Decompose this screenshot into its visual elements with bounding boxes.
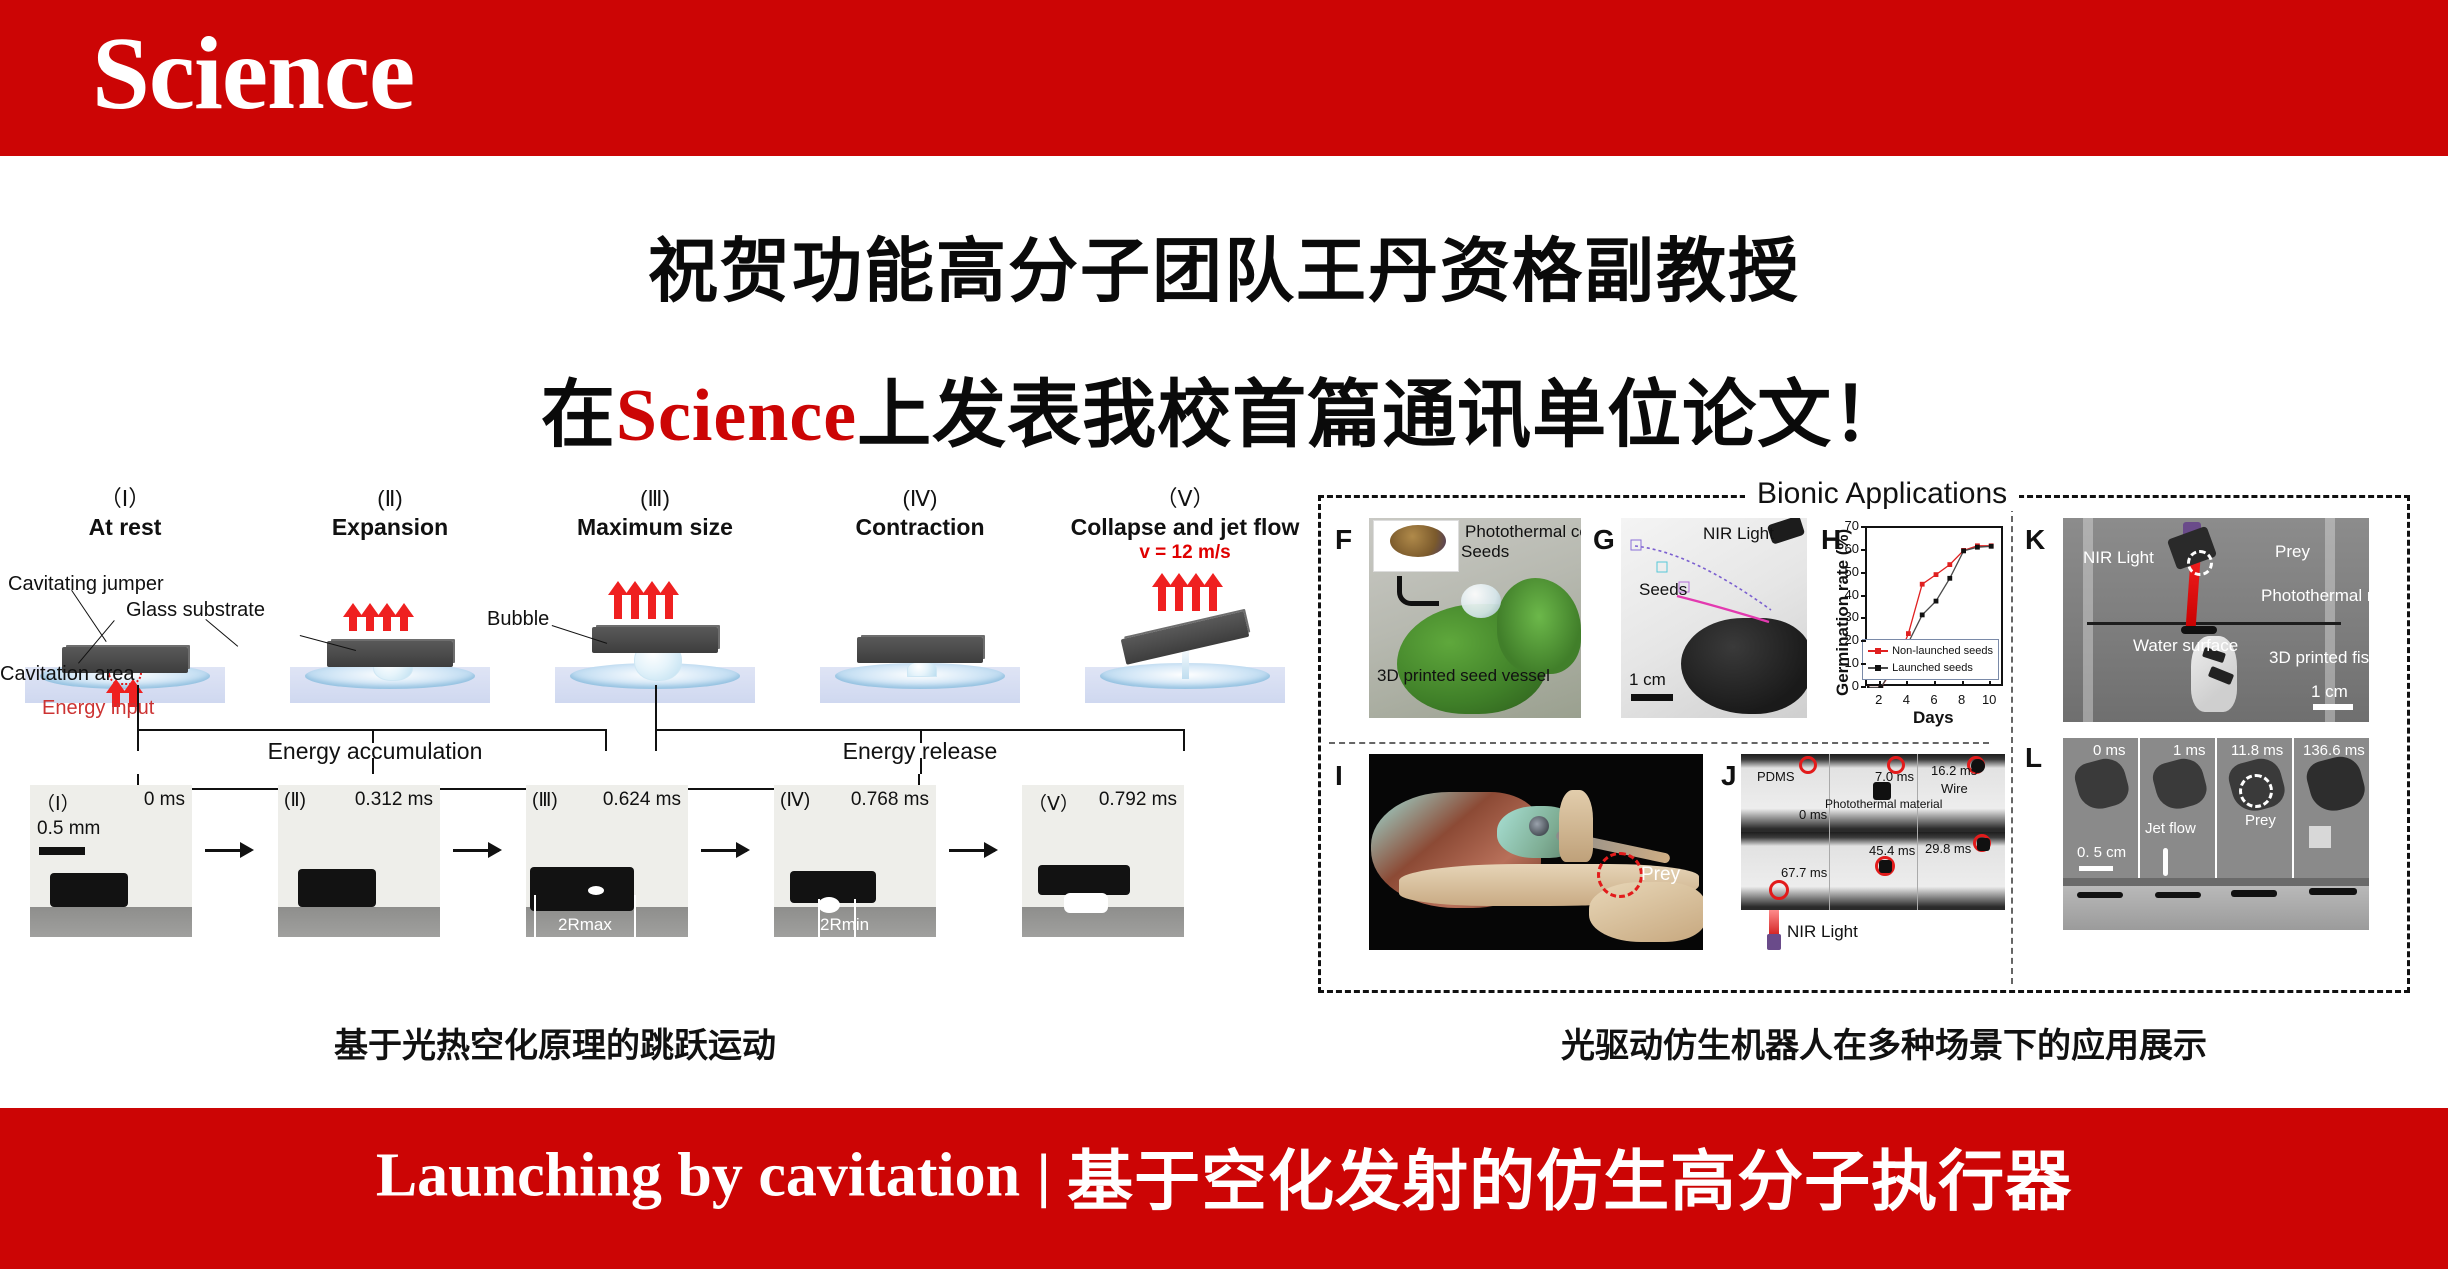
measure-line — [534, 895, 536, 937]
time-45-4ms: 45.4 ms — [1869, 844, 1915, 859]
divider-horizontal — [1329, 742, 1989, 744]
legend-swatch-non-launched — [1868, 650, 1888, 652]
frame-5-roman: （Ⅴ） — [1028, 789, 1079, 816]
panel-g-photo: NIR Light Seeds 1 cm — [1621, 518, 1807, 718]
photothermal-material-shape — [2231, 890, 2277, 897]
y-tick-mark — [1861, 686, 1866, 688]
sequence-arrow-icon — [701, 849, 747, 852]
panel-label-j: J — [1721, 760, 1737, 792]
up-arrow-icon — [1192, 585, 1200, 611]
y-tick-mark — [1861, 572, 1866, 574]
x-tick-mark — [1962, 681, 1964, 686]
jet-arrows — [1158, 585, 1217, 611]
label-wire: Wire — [1941, 782, 1968, 797]
stage-4-name: Contraction — [795, 513, 1045, 542]
cavitation-flash — [818, 897, 840, 913]
scale-bar — [2079, 866, 2113, 871]
fish-shape — [2303, 752, 2369, 816]
label-prey: Prey — [1641, 864, 1680, 886]
y-tick-0: 0 — [1833, 678, 1859, 693]
up-arrow-icon — [631, 593, 639, 619]
time-7ms: 7.0 ms — [1875, 770, 1914, 785]
panel-label-i: I — [1335, 760, 1343, 792]
frame-2-roman: (Ⅱ) — [284, 789, 306, 812]
callout-glass-substrate: Glass substrate — [126, 599, 265, 622]
x-tick-4: 4 — [1895, 692, 1917, 707]
brace-stem — [655, 685, 657, 729]
frame-2: (Ⅱ) 0.312 ms — [278, 785, 440, 937]
cavitating-jumper-block — [592, 627, 718, 653]
jet-velocity-label: v = 12 m/s — [1060, 541, 1310, 566]
label-seeds: Seeds — [1461, 542, 1509, 562]
headline-secondary: 在Science上发表我校首篇通讯单位论文！ — [0, 355, 2448, 462]
y-tick-mark — [1861, 617, 1866, 619]
y-tick-mark — [1861, 640, 1866, 642]
label-3d-printed-seed-vessel: 3D printed seed vessel — [1377, 666, 1550, 686]
headline-secondary-science: Science — [616, 375, 857, 457]
time-67-7ms: 67.7 ms — [1781, 866, 1827, 881]
brace-stem — [372, 758, 374, 774]
label-prey: Prey — [2245, 812, 2276, 829]
time-11-8ms: 11.8 ms — [2231, 742, 2283, 759]
time-0ms: 0 ms — [1799, 808, 1827, 823]
scale-bar — [39, 847, 85, 855]
up-arrow-icon — [648, 593, 656, 619]
up-arrow-icon — [366, 615, 374, 631]
bionic-applications-title: Bionic Applications — [1745, 477, 2019, 511]
water-surface-line — [2063, 878, 2369, 886]
time-0ms: 0 ms — [2093, 742, 2126, 759]
prey-highlight-ring — [1597, 852, 1643, 898]
cavitating-jumper-block — [857, 637, 983, 663]
figure-right-bionic-applications: F Photothermal coating Seeds 3D printed … — [1318, 495, 2410, 993]
label-nir-light: NIR Light — [2083, 548, 2154, 568]
y-tick-mark — [1861, 526, 1866, 528]
stage-2-scene — [265, 593, 515, 703]
callout-cavitation-area: Cavitation area — [0, 663, 135, 686]
time-16-2ms: 16.2 ms — [1931, 764, 1977, 779]
callout-bubble: Bubble — [487, 608, 549, 631]
caption-left: 基于光热空化原理的跳跃运动 — [0, 1018, 1110, 1067]
maximum-size-arrows — [614, 593, 673, 619]
x-tick-mark — [1989, 681, 1991, 686]
label-nir-light: NIR Light — [1787, 922, 1858, 942]
panel-f-photo: Photothermal coating Seeds 3D printed se… — [1369, 518, 1581, 718]
label-3d-printed-fish: 3D printed fish — [2269, 648, 2369, 668]
sequence-arrow-icon — [949, 849, 995, 852]
panel-i-photo: Prey — [1369, 754, 1703, 950]
j-frame-divider — [1829, 754, 1830, 910]
legend-label-launched: Launched seeds — [1892, 660, 1973, 677]
figure-left-cavitation-mechanism: （Ⅰ） At rest (Ⅱ) Expansion — [0, 485, 1270, 995]
water-surface-line — [2087, 622, 2341, 625]
fish-shape — [2150, 754, 2211, 813]
leaf-shape — [1497, 578, 1581, 674]
frame-1-time: 0 ms — [144, 789, 185, 811]
y-tick-30: 30 — [1833, 609, 1859, 624]
label-nir-light: NIR Light — [1703, 524, 1774, 544]
x-tick-8: 8 — [1951, 692, 1973, 707]
sample-silhouette — [298, 869, 376, 907]
photothermal-material-shape — [2309, 888, 2357, 895]
footer-text: Launching by cavitation|基于空化发射的仿生高分子执行器 — [0, 1128, 2448, 1224]
branch-shape — [1559, 790, 1593, 862]
droplet-ring — [1769, 880, 1789, 900]
panel-label-k: K — [2025, 524, 2045, 556]
panel-label-g: G — [1593, 524, 1615, 556]
droplet-ring — [1799, 756, 1817, 774]
sequence-arrow-icon — [205, 849, 251, 852]
y-tick-mark — [1861, 549, 1866, 551]
stage-1-name: At rest — [0, 513, 250, 542]
brace-stem — [920, 758, 922, 774]
bubble-shape — [907, 661, 937, 677]
prey-highlight-ring — [2239, 774, 2273, 808]
legend-swatch-launched — [1868, 667, 1888, 669]
label-scale-k: 1 cm — [2311, 682, 2348, 702]
frame-3: (Ⅲ) 0.624 ms 2Rmax — [526, 785, 688, 937]
frame-5-time: 0.792 ms — [1099, 789, 1177, 811]
label-scale-l: 0. 5 cm — [2077, 844, 2126, 861]
prey-highlight-ring — [2187, 550, 2213, 576]
label-photothermal-material: Photothermal material — [1825, 798, 1942, 811]
cavitation-flash — [588, 886, 604, 895]
label-water-surface: Water surface — [2133, 636, 2238, 656]
chart-plot-area: Non-launched seeds Launched seeds — [1865, 526, 2003, 686]
nir-light-source-j — [1769, 910, 1779, 936]
photothermal-material-shape — [2077, 892, 2123, 898]
stage-1-roman: （Ⅰ） — [0, 485, 250, 513]
sequence-arrow-icon — [453, 849, 499, 852]
frame-3-measure-label: 2Rmax — [558, 915, 612, 935]
jet-flow-shape — [2163, 848, 2168, 876]
legend-row-1: Non-launched seeds — [1868, 643, 1993, 660]
headline-secondary-suffix: 上发表我校首篇通讯单位论文！ — [857, 373, 1907, 456]
frame-1: （Ⅰ） 0 ms 0.5 mm — [30, 785, 192, 937]
frame-3-time: 0.624 ms — [603, 789, 681, 811]
footer-chinese: 基于空化发射的仿生高分子执行器 — [1067, 1144, 2072, 1218]
nir-emitter-shape — [1767, 934, 1781, 950]
y-tick-50: 50 — [1833, 564, 1859, 579]
frame-4-time: 0.768 ms — [851, 789, 929, 811]
x-tick-2: 2 — [1868, 692, 1890, 707]
j-frame-divider — [1917, 754, 1918, 910]
frame-4: (Ⅳ) 0.768 ms 2Rmin — [774, 785, 936, 937]
prey-released-shape — [2309, 826, 2331, 848]
fish-shape — [2072, 754, 2133, 813]
sample-silhouette — [50, 873, 128, 907]
up-arrow-icon — [1209, 585, 1217, 611]
germination-rate-chart: Germination rate (%) Non-launched seeds … — [1817, 514, 2013, 728]
stage-3-name: Maximum size — [530, 513, 780, 542]
time-1ms: 1 ms — [2173, 742, 2206, 759]
x-tick-mark — [1934, 681, 1936, 686]
stage-1: （Ⅰ） At rest — [0, 485, 250, 541]
label-energy-accumulation: Energy accumulation — [200, 738, 550, 765]
photothermal-dot — [1879, 860, 1892, 873]
sample-silhouette — [1038, 865, 1130, 895]
caption-right: 光驱动仿生机器人在多种场景下的应用展示 — [1338, 1018, 2430, 1067]
stage-2-roman: (Ⅱ) — [265, 485, 515, 513]
callout-cavitating-jumper: Cavitating jumper — [8, 573, 164, 596]
footer-separator: | — [1020, 1144, 1067, 1209]
up-arrow-icon — [400, 615, 408, 631]
measure-line — [634, 895, 636, 937]
chameleon-eye — [1529, 816, 1549, 836]
panel-label-f: F — [1335, 524, 1352, 556]
photothermal-material-shape — [2155, 892, 2201, 898]
seed-vessel-shape — [1461, 584, 1501, 618]
stage-5-name: Collapse and jet flow — [1060, 513, 1310, 542]
x-tick-mark — [1906, 681, 1908, 686]
x-tick-6: 6 — [1923, 692, 1945, 707]
up-arrow-icon — [1175, 585, 1183, 611]
label-pdms: PDMS — [1757, 770, 1795, 785]
up-arrow-icon — [383, 615, 391, 631]
chart-x-axis-label: Days — [1913, 708, 1954, 728]
stage-5-roman: （Ⅴ） — [1060, 485, 1310, 513]
science-brand-logo: Science — [92, 22, 414, 126]
seed-cluster-shape — [1390, 525, 1446, 557]
stage-4-scene — [795, 593, 1045, 703]
chart-legend: Non-launched seeds Launched seeds — [1862, 639, 1999, 680]
y-tick-mark — [1861, 663, 1866, 665]
frame-4-measure-label: 2Rmin — [820, 915, 869, 935]
seed-inset — [1373, 520, 1459, 572]
time-136-6ms: 136.6 ms — [2303, 742, 2365, 759]
arrow-curve-icon — [1397, 576, 1439, 606]
time-29-8ms: 29.8 ms — [1925, 842, 1971, 857]
y-tick-20: 20 — [1833, 632, 1859, 647]
label-prey: Prey — [2275, 542, 2310, 562]
x-tick-mark — [1879, 681, 1881, 686]
frame-1-roman: （Ⅰ） — [36, 789, 80, 816]
stage-4: (Ⅳ) Contraction — [795, 485, 1045, 541]
scale-bar — [1631, 694, 1673, 701]
stage-3: (Ⅲ) Maximum size — [530, 485, 780, 541]
legend-label-non-launched: Non-launched seeds — [1892, 643, 1993, 660]
headline-primary: 祝贺功能高分子团队王丹资格副教授 — [0, 215, 2448, 316]
panel-k-photo: NIR Light Prey Photothermal material Wat… — [2063, 518, 2369, 722]
frame-3-roman: (Ⅲ) — [532, 789, 558, 812]
legend-row-2: Launched seeds — [1868, 660, 1993, 677]
y-tick-70: 70 — [1833, 518, 1859, 533]
expansion-arrows — [349, 615, 408, 631]
up-arrow-icon — [665, 593, 673, 619]
label-jet-flow: Jet flow — [2145, 820, 2196, 837]
label-photothermal-material: Photothermal material — [2261, 586, 2369, 606]
headline-secondary-prefix: 在 — [541, 373, 616, 456]
stage-2: (Ⅱ) Expansion — [265, 485, 515, 541]
stage-5-scene — [1060, 593, 1310, 703]
up-arrow-icon — [1158, 585, 1166, 611]
panel-label-l: L — [2025, 742, 2042, 774]
sample-silhouette — [530, 867, 634, 911]
stage-2-name: Expansion — [265, 513, 515, 542]
frame-ground — [278, 907, 440, 937]
photothermal-dot — [1977, 838, 1990, 851]
frame-4-roman: (Ⅳ) — [780, 789, 810, 812]
scale-bar — [2313, 704, 2353, 710]
cavitating-jumper-block — [327, 641, 453, 667]
frame-ground — [30, 907, 192, 937]
stage-4-roman: (Ⅳ) — [795, 485, 1045, 513]
y-tick-10: 10 — [1833, 655, 1859, 670]
up-arrow-icon — [349, 615, 357, 631]
footer-english: Launching by cavitation — [376, 1142, 1020, 1210]
label-seeds: Seeds — [1639, 580, 1687, 600]
frame-5: （Ⅴ） 0.792 ms — [1022, 785, 1184, 937]
panel-j-photo: PDMS Photothermal material Wire 0 ms 7.0… — [1741, 754, 2005, 910]
stage-3-roman: (Ⅲ) — [530, 485, 780, 513]
brace-stem — [137, 685, 139, 729]
y-tick-60: 60 — [1833, 541, 1859, 556]
frame-1-scale-text: 0.5 mm — [37, 818, 100, 840]
y-tick-40: 40 — [1833, 587, 1859, 602]
photothermal-material-shape — [2181, 626, 2217, 634]
jet-flash — [1064, 893, 1108, 913]
x-tick-10: 10 — [1978, 692, 2000, 707]
high-speed-frame-strip: （Ⅰ） 0 ms 0.5 mm (Ⅱ) 0.312 ms (Ⅲ) 0.624 m… — [0, 785, 1270, 955]
frame-2-time: 0.312 ms — [355, 789, 433, 811]
up-arrow-icon — [614, 593, 622, 619]
stage-5: （Ⅴ） Collapse and jet flow v = 12 m/s — [1060, 485, 1310, 566]
panel-l-photo: 0 ms 1 ms 11.8 ms 136.6 ms Jet flow Prey… — [2063, 738, 2369, 930]
label-scale-g: 1 cm — [1629, 670, 1666, 690]
y-tick-mark — [1861, 595, 1866, 597]
label-photothermal-coating: Photothermal coating — [1465, 522, 1581, 542]
